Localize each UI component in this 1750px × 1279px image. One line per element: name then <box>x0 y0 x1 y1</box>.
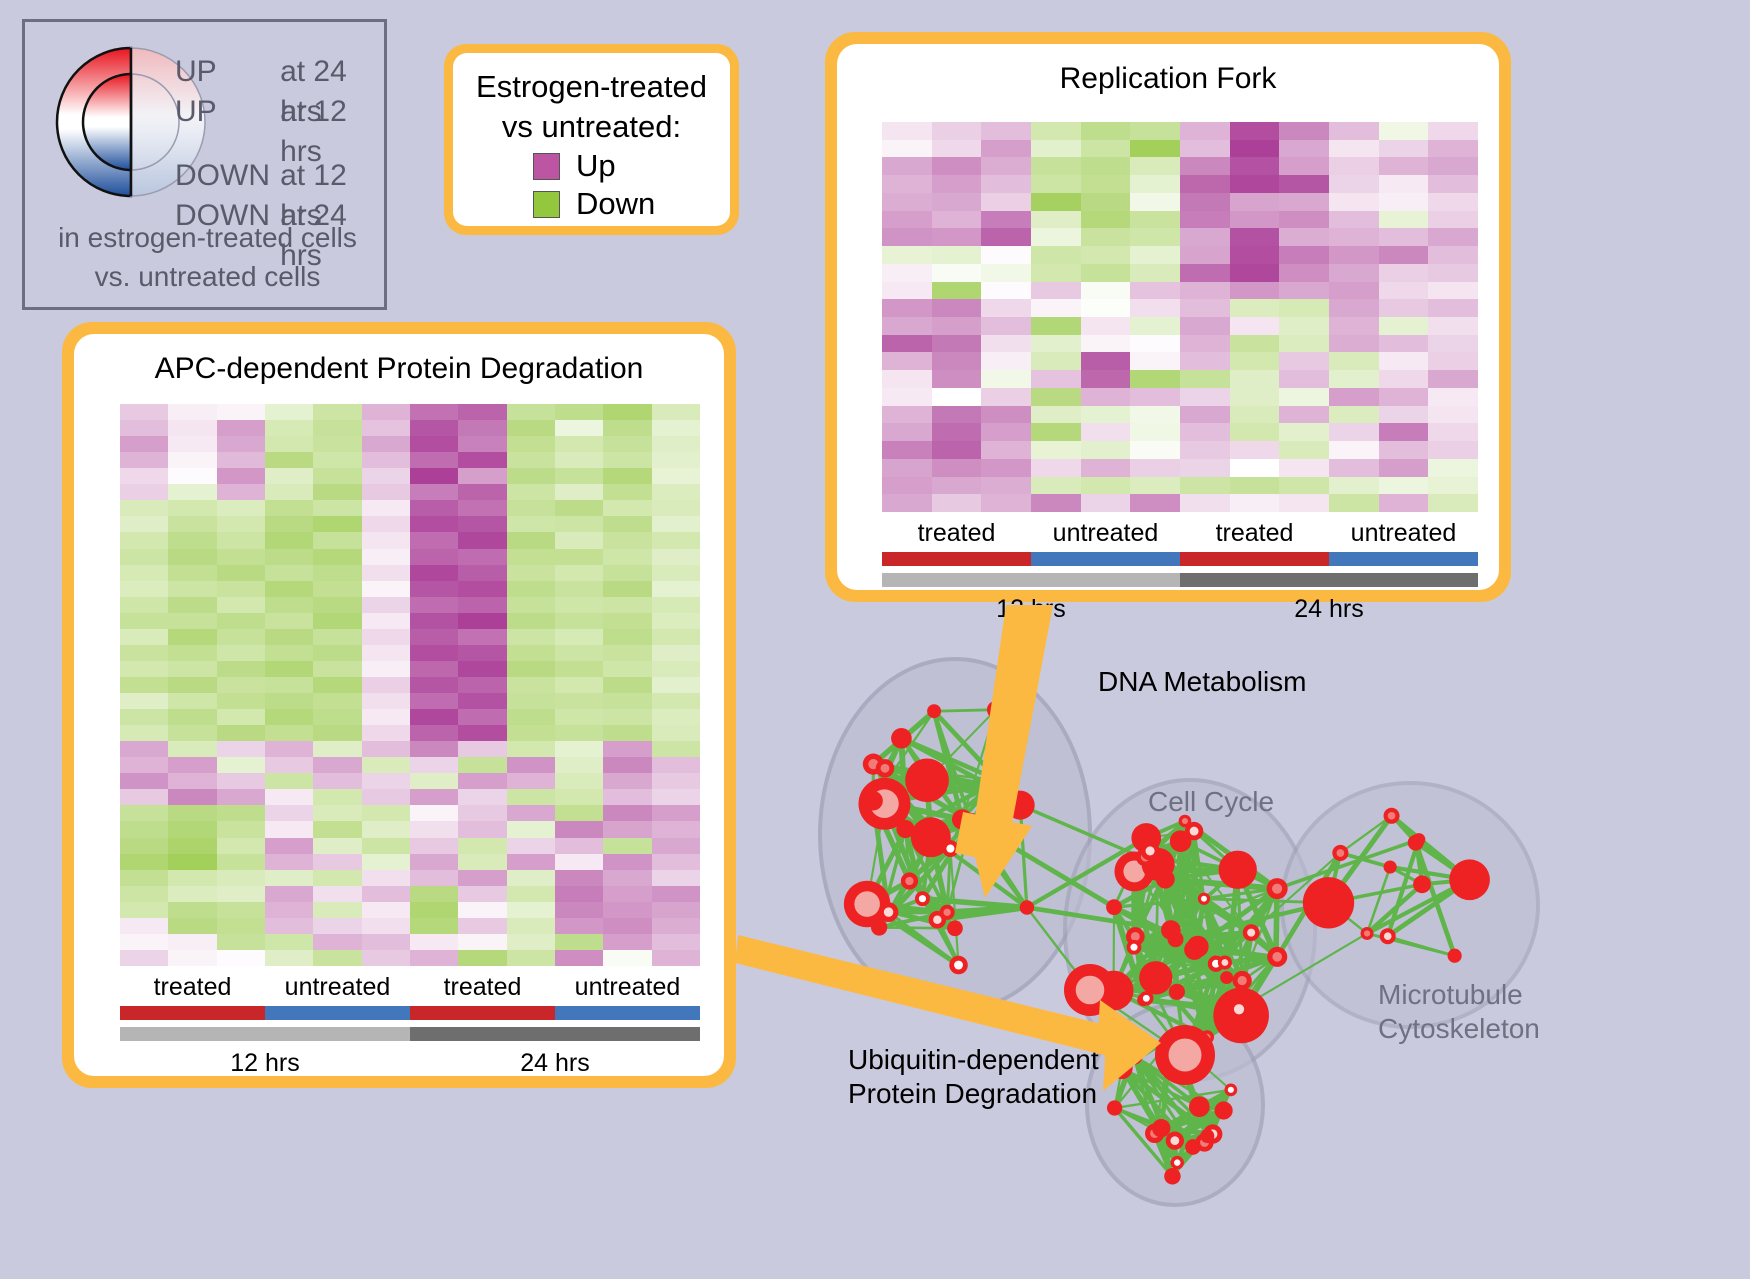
heatmap-cell <box>507 468 555 484</box>
heatmap-cell <box>217 661 265 677</box>
heatmap-cell <box>603 613 651 629</box>
heatmap-cell <box>882 264 932 282</box>
heatmap-cell <box>507 484 555 500</box>
heatmap-cell <box>1428 122 1478 140</box>
heatmap-cell <box>652 581 700 597</box>
heatmap-cell <box>652 404 700 420</box>
cluster-label-dna-metabolism: DNA Metabolism <box>1098 665 1307 699</box>
group-labels-row: treated untreated treated untreated <box>882 516 1478 550</box>
heatmap-cell <box>265 757 313 773</box>
heatmap-cell <box>555 404 603 420</box>
heatmap-cell <box>168 789 216 805</box>
heatmap-cell <box>652 709 700 725</box>
heatmap-cell <box>410 645 458 661</box>
heatmap-cell <box>882 211 932 229</box>
network-node <box>1184 940 1204 960</box>
heatmap-cell <box>1230 352 1280 370</box>
heatmap-cell <box>555 581 603 597</box>
heatmap-cell <box>507 934 555 950</box>
heatmap-cell <box>652 886 700 902</box>
heatmap-cell <box>168 532 216 548</box>
heatmap-cell <box>168 918 216 934</box>
heatmap-cell <box>1379 228 1429 246</box>
heatmap-cell <box>313 452 361 468</box>
heatmap-cell <box>1379 317 1429 335</box>
heatmap-cell <box>1428 388 1478 406</box>
heatmap-cell <box>1279 228 1329 246</box>
heatmap-cell <box>168 725 216 741</box>
heatmap-cell <box>1081 299 1131 317</box>
heatmap-cell <box>1279 157 1329 175</box>
heatmap-cell <box>603 725 651 741</box>
heatmap-cell <box>265 661 313 677</box>
heatmap-cell <box>168 902 216 918</box>
heatmap-cell <box>1230 299 1280 317</box>
heatmap-cell <box>410 741 458 757</box>
heatmap-cell <box>1031 299 1081 317</box>
heatmap-cell <box>507 741 555 757</box>
heatmap-cell <box>458 404 506 420</box>
key-direction: UP <box>175 52 280 92</box>
heatmap-cell <box>652 677 700 693</box>
heatmap-cell <box>981 423 1031 441</box>
heatmap-cell <box>1329 370 1379 388</box>
heatmap-cell <box>410 532 458 548</box>
heatmap-cell <box>313 805 361 821</box>
heatmap-cell <box>555 613 603 629</box>
heatmap-cell <box>120 805 168 821</box>
estrogen-legend: Estrogen-treated vs untreated: Up Down <box>444 44 739 235</box>
network-node <box>1267 878 1288 899</box>
heatmap-cell <box>652 500 700 516</box>
heatmap-cell <box>1230 228 1280 246</box>
heatmap-cell <box>217 436 265 452</box>
heatmap-cell <box>1279 175 1329 193</box>
heatmap-cell <box>362 757 410 773</box>
heatmap-cell <box>507 565 555 581</box>
heatmap-cell <box>217 420 265 436</box>
network-node <box>1127 940 1142 955</box>
heatmap-cell <box>217 805 265 821</box>
heatmap-cell <box>1279 423 1329 441</box>
heatmap-cell <box>1279 406 1329 424</box>
heatmap-cell <box>1329 264 1379 282</box>
heatmap-cell <box>1031 122 1081 140</box>
heatmap-cell <box>1428 335 1478 353</box>
heatmap-cell <box>313 404 361 420</box>
heatmap-cell <box>410 918 458 934</box>
network-node <box>1219 851 1257 889</box>
heatmap-cell <box>265 420 313 436</box>
heatmap-cell <box>217 613 265 629</box>
heatmap-cell <box>1379 352 1429 370</box>
heatmap-cell <box>265 404 313 420</box>
heatmap-cell <box>362 838 410 854</box>
heatmap-cell <box>1031 211 1081 229</box>
heatmap-cell <box>265 838 313 854</box>
heatmap-cell <box>168 484 216 500</box>
heatmap-cell <box>1329 352 1379 370</box>
heatmap-cell <box>1230 140 1280 158</box>
heatmap-cell <box>313 661 361 677</box>
heatmap-cell <box>1180 157 1230 175</box>
heatmap-cell <box>555 645 603 661</box>
heatmap-cell <box>120 886 168 902</box>
heatmap-cell <box>313 854 361 870</box>
network-node <box>1107 1100 1122 1115</box>
heatmap-cell <box>265 645 313 661</box>
heatmap-cell <box>882 157 932 175</box>
heatmap-cell <box>458 516 506 532</box>
heatmap-cell <box>265 902 313 918</box>
heatmap-cell <box>362 854 410 870</box>
heatmap-cell <box>217 838 265 854</box>
heatmap-cell <box>603 757 651 773</box>
time-bar-24hrs <box>1180 573 1478 587</box>
heatmap-cell <box>652 805 700 821</box>
heatmap-cell <box>1130 122 1180 140</box>
heatmap-cell <box>1230 423 1280 441</box>
heatmap-cell <box>313 918 361 934</box>
heatmap-cell <box>458 821 506 837</box>
network-node <box>879 902 899 922</box>
heatmap-cell <box>313 613 361 629</box>
heatmap-cell <box>313 886 361 902</box>
heatmap-cell <box>1031 423 1081 441</box>
network-node <box>1218 955 1232 969</box>
heatmap-cell <box>932 228 982 246</box>
network-node <box>1228 998 1249 1019</box>
heatmap-cell <box>362 404 410 420</box>
heatmap-cell <box>410 870 458 886</box>
heatmap-cell <box>168 821 216 837</box>
axis-apc: treated untreated treated untreated 12 h… <box>120 970 700 1081</box>
network-node <box>985 780 998 793</box>
estrogen-legend-inner: Estrogen-treated vs untreated: Up Down <box>453 53 730 226</box>
heatmap-cell <box>555 661 603 677</box>
heatmap-cell <box>362 741 410 757</box>
heatmap-cell <box>410 677 458 693</box>
heatmap-cell <box>1379 157 1429 175</box>
heatmap-cell <box>1379 282 1429 300</box>
heatmap-cell <box>932 299 982 317</box>
heatmap-cell <box>1081 388 1131 406</box>
group-labels-row: treated untreated treated untreated <box>120 970 700 1004</box>
heatmap-cell <box>1081 352 1131 370</box>
heatmap-cell <box>362 436 410 452</box>
heatmap-cell <box>120 773 168 789</box>
heatmap-cell <box>652 452 700 468</box>
heatmap-cell <box>555 918 603 934</box>
heatmap-cell <box>1130 335 1180 353</box>
heatmap-cell <box>362 870 410 886</box>
network-node <box>1152 1119 1170 1137</box>
heatmap-cell <box>1329 193 1379 211</box>
heatmap-cell <box>603 805 651 821</box>
heatmap-cell <box>265 436 313 452</box>
heatmap-cell <box>507 918 555 934</box>
heatmap-cell <box>1130 282 1180 300</box>
heatmap-cell <box>217 404 265 420</box>
heatmap-cell <box>507 805 555 821</box>
heatmap-cell <box>603 741 651 757</box>
heatmap-cell <box>1379 335 1429 353</box>
key-row: UP at 12 hrs <box>175 92 384 132</box>
heatmap-cell <box>120 934 168 950</box>
group-bar-untreated <box>1329 552 1478 566</box>
key-row: UP at 24 hrs <box>175 52 384 92</box>
heatmap-cell <box>1180 317 1230 335</box>
heatmap-cell <box>555 693 603 709</box>
heatmap-cell <box>652 918 700 934</box>
heatmap-cell <box>652 757 700 773</box>
heatmap-cell <box>458 805 506 821</box>
heatmap-cell <box>507 500 555 516</box>
heatmap-cell <box>1379 122 1429 140</box>
heatmap-cell <box>265 870 313 886</box>
heatmap-cell <box>1081 140 1131 158</box>
heatmap-cell <box>1180 140 1230 158</box>
heatmap-cell <box>1081 370 1131 388</box>
group-label: treated <box>882 516 1031 550</box>
heatmap-cell <box>362 565 410 581</box>
heatmap-cell <box>1428 140 1478 158</box>
heatmap-cell <box>410 565 458 581</box>
network-node <box>1233 971 1252 990</box>
network-node <box>1267 947 1287 967</box>
heatmap-cell <box>217 532 265 548</box>
heatmap-cell <box>1279 264 1329 282</box>
heatmap-cell <box>265 693 313 709</box>
heatmap-cell <box>1031 335 1081 353</box>
heatmap-cell <box>265 821 313 837</box>
heatmap-cell <box>507 693 555 709</box>
heatmap-cell <box>507 581 555 597</box>
network-node <box>905 758 949 802</box>
heatmap-cell <box>362 532 410 548</box>
heatmap-cell <box>603 661 651 677</box>
heatmap-cell <box>120 597 168 613</box>
heatmap-cell <box>217 934 265 950</box>
heatmap-cell <box>168 500 216 516</box>
heatmap-cell <box>555 516 603 532</box>
heatmap-cell <box>652 436 700 452</box>
heatmap-cell <box>458 741 506 757</box>
heatmap-cell <box>652 516 700 532</box>
heatmap-cell <box>981 441 1031 459</box>
heatmap-cell <box>882 246 932 264</box>
heatmap-cell <box>603 516 651 532</box>
heatmap-cell <box>1428 246 1478 264</box>
timepoint-color-bars <box>882 573 1478 587</box>
heatmap-cell <box>1230 388 1280 406</box>
heatmap-cell <box>410 468 458 484</box>
heatmap-cell <box>981 264 1031 282</box>
heatmap-cell <box>120 420 168 436</box>
heatmap-cell <box>981 370 1031 388</box>
heatmap-cell <box>458 581 506 597</box>
heatmap-cell <box>932 140 982 158</box>
network-node <box>1106 899 1122 915</box>
heatmap-cell <box>652 693 700 709</box>
heatmap-cell <box>1428 494 1478 512</box>
heatmap-cell <box>1130 423 1180 441</box>
heatmap-cell <box>410 789 458 805</box>
group-bar-untreated <box>1031 552 1180 566</box>
heatmap-cell <box>217 789 265 805</box>
heatmap-cell <box>1428 157 1478 175</box>
heatmap-cell <box>1130 441 1180 459</box>
network-node <box>1020 900 1034 914</box>
heatmap-cell <box>1428 175 1478 193</box>
heatmap-cell <box>1180 282 1230 300</box>
heatmap-cell <box>1031 264 1081 282</box>
heatmap-cell <box>1379 140 1429 158</box>
heatmap-cell <box>217 741 265 757</box>
heatmap-cell <box>652 725 700 741</box>
heatmap-cell <box>362 918 410 934</box>
heatmap-cell <box>217 693 265 709</box>
heatmap-cell <box>168 805 216 821</box>
heatmap-cell <box>120 565 168 581</box>
heatmap-cell <box>168 404 216 420</box>
network-node <box>1384 860 1397 873</box>
heatmap-cell <box>507 516 555 532</box>
heatmap-cell <box>1279 441 1329 459</box>
heatmap-cell <box>1130 157 1180 175</box>
heatmap-cell <box>120 821 168 837</box>
heatmap-cell <box>120 838 168 854</box>
heatmap-cell <box>1230 317 1280 335</box>
heatmap-cell <box>168 581 216 597</box>
heatmap-cell <box>1031 246 1081 264</box>
heatmap-cell <box>313 532 361 548</box>
heatmap-cell <box>932 122 982 140</box>
heatmap-cell <box>1031 282 1081 300</box>
heatmap-cell <box>981 459 1031 477</box>
heatmap-cell <box>313 468 361 484</box>
heatmap-cell <box>265 918 313 934</box>
heatmap-cell <box>507 773 555 789</box>
heatmap-cell <box>1329 157 1379 175</box>
heatmap-cell <box>882 193 932 211</box>
heatmap-cell <box>1081 211 1131 229</box>
heatmap-cell <box>603 452 651 468</box>
heatmap-cell <box>555 565 603 581</box>
heatmap-cell <box>1180 335 1230 353</box>
heatmap-cell <box>217 452 265 468</box>
heatmap-cell <box>362 886 410 902</box>
heatmap-cell <box>1279 477 1329 495</box>
heatmap-cell <box>1230 175 1280 193</box>
group-bar-treated <box>882 552 1031 566</box>
heatmap-cell <box>1031 352 1081 370</box>
heatmap-cell <box>981 282 1031 300</box>
heatmap-cell <box>362 934 410 950</box>
heatmap-cell <box>458 597 506 613</box>
heatmap-cell <box>1279 388 1329 406</box>
heatmap-cell <box>168 693 216 709</box>
key-row: DOWN at 12 hrs <box>175 156 384 196</box>
heatmap-cell <box>981 388 1031 406</box>
group-label: treated <box>410 970 555 1004</box>
heatmap-cell <box>932 157 982 175</box>
heatmap-cell <box>555 870 603 886</box>
heatmap-cell <box>313 677 361 693</box>
heatmap-cell <box>313 565 361 581</box>
updown-color-key: UP at 24 hrs UP at 12 hrs DOWN at 12 hrs… <box>22 19 387 310</box>
heatmap-cell <box>1130 370 1180 388</box>
heatmap-cell <box>120 918 168 934</box>
heatmap-cell <box>603 870 651 886</box>
heatmap-cell <box>652 597 700 613</box>
heatmap-cell <box>932 175 982 193</box>
heatmap-cell <box>120 484 168 500</box>
cluster-label-line2: Cytoskeleton <box>1378 1012 1540 1046</box>
heatmap-cell <box>555 821 603 837</box>
network-node <box>942 840 959 857</box>
heatmap-cell <box>1279 459 1329 477</box>
heatmap-cell <box>217 902 265 918</box>
network-node <box>962 813 980 831</box>
heatmap-cell <box>1230 193 1280 211</box>
heatmap-cell <box>507 420 555 436</box>
heatmap-cell <box>882 494 932 512</box>
heatmap-cell <box>410 757 458 773</box>
heatmap-cell <box>362 468 410 484</box>
key-footer-line2: vs. untreated cells <box>25 257 390 296</box>
heatmap-cell <box>1379 193 1429 211</box>
network-node <box>1166 1132 1184 1150</box>
heatmap-cell <box>1031 175 1081 193</box>
heatmap-cell <box>1428 299 1478 317</box>
heatmap-cell <box>507 709 555 725</box>
heatmap-cell <box>1329 317 1379 335</box>
heatmap-cell <box>1130 299 1180 317</box>
heatmap-cell <box>265 886 313 902</box>
heatmap-cell <box>603 773 651 789</box>
heatmap-cell <box>652 613 700 629</box>
heatmap-cell <box>1180 441 1230 459</box>
heatmap-cell <box>1428 477 1478 495</box>
heatmap-cell <box>1329 335 1379 353</box>
heatmap-cell <box>555 838 603 854</box>
heatmap-cell <box>1379 370 1429 388</box>
heatmap-cell <box>555 725 603 741</box>
heatmap-cell <box>313 484 361 500</box>
heatmap-cell <box>555 436 603 452</box>
heatmap-cell <box>120 452 168 468</box>
heatmap-cell <box>362 805 410 821</box>
updown-key-footer: in estrogen-treated cells vs. untreated … <box>25 218 390 296</box>
heatmap-cell <box>120 516 168 532</box>
heatmap-cell <box>981 228 1031 246</box>
heatmap-cell <box>1329 423 1379 441</box>
estrogen-title-line2: vs untreated: <box>453 107 730 147</box>
heatmap-cell <box>1130 494 1180 512</box>
heatmap-cell <box>1279 335 1329 353</box>
network-node <box>987 701 1005 719</box>
heatmap-cell <box>652 484 700 500</box>
heatmap-cell <box>168 741 216 757</box>
heatmap-cell <box>507 886 555 902</box>
network-node <box>1139 961 1172 994</box>
heatmap-cell <box>555 420 603 436</box>
heatmap-cell <box>652 902 700 918</box>
heatmap-cell <box>217 516 265 532</box>
heatmap-cell <box>1279 352 1329 370</box>
panel-title-apc: APC-dependent Protein Degradation <box>74 334 724 388</box>
